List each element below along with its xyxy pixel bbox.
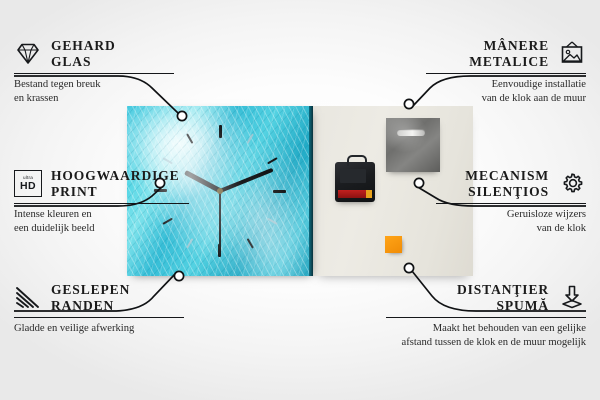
clock-tick <box>219 125 221 191</box>
clock-tick <box>186 191 221 249</box>
hanging-picture-icon <box>558 40 586 67</box>
clock-center-cap <box>217 188 223 194</box>
callout-rule <box>426 73 586 75</box>
clock-hour-hand <box>184 170 222 193</box>
clock-tick <box>219 191 254 249</box>
callout-hoogwaardige-print: ultra HD HOOGWAARDIGEPRINT Intense kleur… <box>14 168 189 236</box>
callout-description: Intense kleuren eneen duidelijk beeld <box>14 208 189 236</box>
callout-rule <box>436 203 586 205</box>
clock-tick <box>220 190 286 192</box>
hanger-slot <box>397 129 425 136</box>
callout-description: Bestand tegen breuken krassen <box>14 78 174 106</box>
callout-manere-metalice: MÂNEREMETALICE Eenvoudige installatievan… <box>426 38 586 106</box>
callout-title: DISTANŢIERSPUMĂ <box>457 282 549 314</box>
clock-minute-hand <box>219 168 273 193</box>
clock-second-hand <box>219 191 221 253</box>
mechanism-battery-tab <box>366 190 372 198</box>
mechanism-body <box>340 169 366 183</box>
spacer-arrow-icon <box>558 284 586 311</box>
clock-tick <box>219 191 221 257</box>
callout-geslepen-randen: GESLEPENRANDEN Gladde en veilige afwerki… <box>14 282 184 336</box>
callout-description: Maakt het behouden van een gelijkeafstan… <box>386 322 586 350</box>
callout-title: GESLEPENRANDEN <box>51 282 130 314</box>
callout-title: HOOGWAARDIGEPRINT <box>51 168 180 200</box>
callout-mecanism-silentios: MECANISMSILENŢIOS Geruisloze wijzersvan … <box>436 168 586 236</box>
callout-header: GESLEPENRANDEN <box>14 282 184 314</box>
callout-title: MÂNEREMETALICE <box>469 38 549 70</box>
callout-header: DISTANŢIERSPUMĂ <box>386 282 586 314</box>
callout-rule <box>386 317 586 319</box>
mechanism-label <box>338 190 368 198</box>
callout-header: ultra HD HOOGWAARDIGEPRINT <box>14 168 189 200</box>
callout-rule <box>14 73 174 75</box>
diamond-icon <box>14 40 42 67</box>
callout-header: GEHARDGLAS <box>14 38 174 70</box>
callout-title: GEHARDGLAS <box>51 38 116 70</box>
clock-tick <box>186 133 221 191</box>
callout-rule <box>14 203 189 205</box>
callout-description: Gladde en veilige afwerking <box>14 322 184 336</box>
clock-tick <box>220 190 278 225</box>
beveled-edges-icon <box>14 284 42 311</box>
clock-mechanism <box>335 162 375 202</box>
callout-description: Geruisloze wijzersvan de klok <box>436 208 586 236</box>
metal-hanger <box>386 118 440 172</box>
callout-header: MÂNEREMETALICE <box>426 38 586 70</box>
callout-gehard-glas: GEHARDGLAS Bestand tegen breuken krassen <box>14 38 174 106</box>
callout-distantier-spuma: DISTANŢIERSPUMĂ Maakt het behouden van e… <box>386 282 586 350</box>
callout-title: MECANISMSILENŢIOS <box>465 168 549 200</box>
gear-icon <box>558 170 586 197</box>
callout-description: Eenvoudige installatievan de klok aan de… <box>426 78 586 106</box>
callout-header: MECANISMSILENŢIOS <box>436 168 586 200</box>
infographic-canvas: GEHARDGLAS Bestand tegen breuken krassen… <box>0 0 600 400</box>
clock-tick <box>219 133 254 191</box>
foam-spacer <box>385 236 402 253</box>
clock-tick <box>220 157 278 192</box>
callout-rule <box>14 317 184 319</box>
mechanism-loop <box>347 155 367 166</box>
clock-beveled-edge <box>309 106 313 276</box>
ultra-hd-icon: ultra HD <box>14 170 42 197</box>
